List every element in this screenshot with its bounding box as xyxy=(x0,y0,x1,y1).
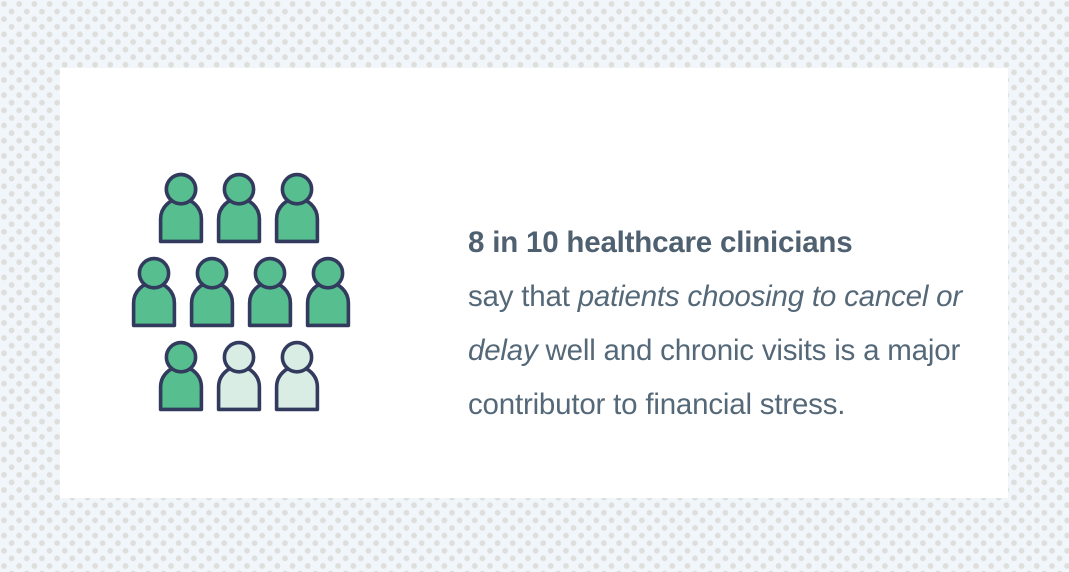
person-icon xyxy=(213,172,265,244)
person-icon xyxy=(155,340,207,412)
statistic-body: say that patients choosing to cancel or … xyxy=(468,270,1028,432)
person-icon xyxy=(186,256,238,328)
person-icon-empty xyxy=(271,340,323,412)
person-icon xyxy=(244,256,296,328)
person-icon-empty xyxy=(213,340,265,412)
body-lead: say that xyxy=(468,280,578,313)
person-icon xyxy=(271,172,323,244)
person-icon xyxy=(302,256,354,328)
pictogram-row-3 xyxy=(155,340,323,412)
person-icon xyxy=(128,256,180,328)
statistic-headline: 8 in 10 healthcare clinicians xyxy=(468,216,1028,270)
body-tail: well and chronic visits is a major contr… xyxy=(468,334,960,421)
people-pictogram xyxy=(128,172,354,412)
pictogram-row-2 xyxy=(128,256,354,328)
statistic-text-block: 8 in 10 healthcare clinicians say that p… xyxy=(468,216,1028,432)
statistic-card: 8 in 10 healthcare clinicians say that p… xyxy=(60,68,1008,498)
person-icon xyxy=(155,172,207,244)
pictogram-row-1 xyxy=(155,172,323,244)
